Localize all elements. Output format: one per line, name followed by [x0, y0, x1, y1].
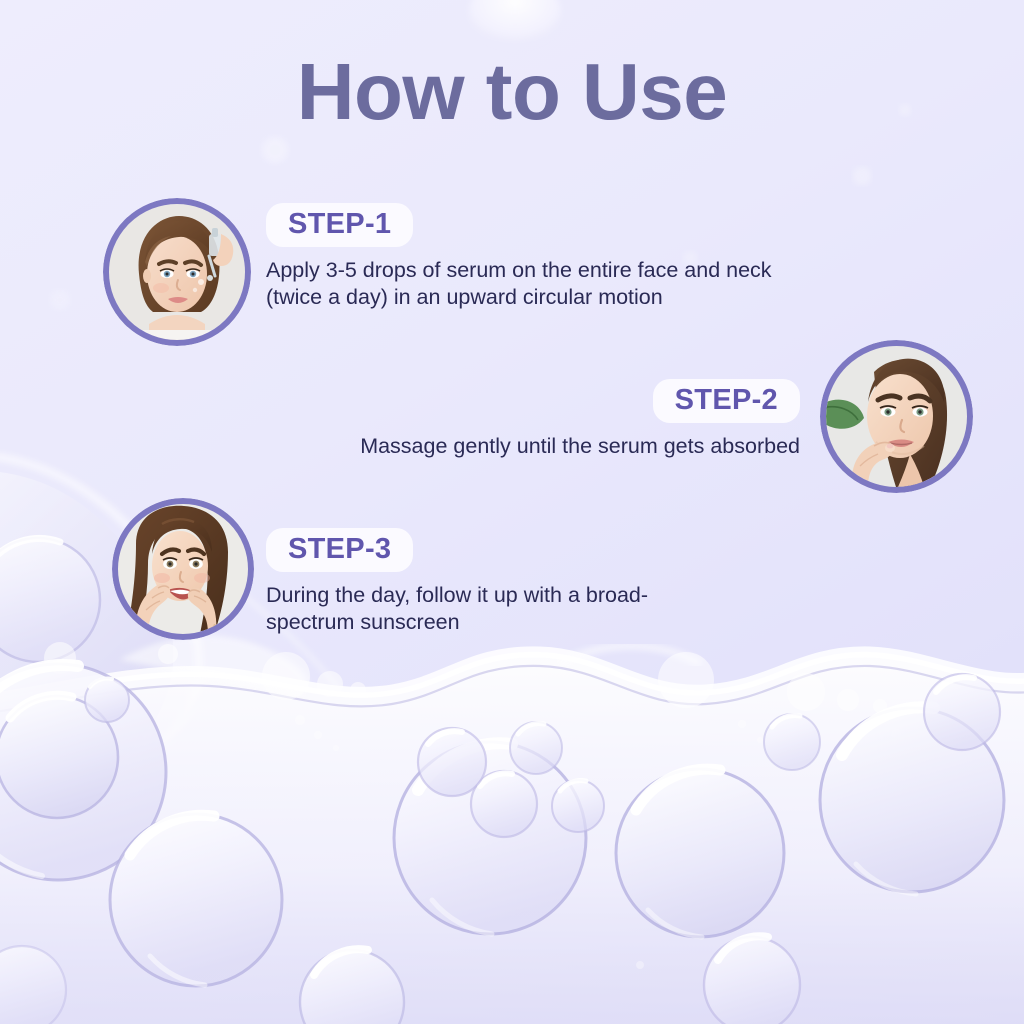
step-2-avatar: [820, 340, 973, 493]
infographic-canvas: How to Use: [0, 0, 1024, 1024]
step-2-block: STEP-2 Massage gently until the serum ge…: [340, 379, 800, 460]
step-3-block: STEP-3 During the day, follow it up with…: [266, 528, 726, 635]
step-1-label: STEP-1: [266, 203, 413, 247]
step-1-avatar-ring: [103, 198, 251, 346]
step-1-text: Apply 3-5 drops of serum on the entire f…: [266, 257, 786, 310]
step-2-avatar-ring: [820, 340, 973, 493]
step-3-text: During the day, follow it up with a broa…: [266, 582, 726, 635]
step-2-text: Massage gently until the serum gets abso…: [340, 433, 800, 460]
page-title: How to Use: [0, 46, 1024, 138]
step-3-label: STEP-3: [266, 528, 413, 572]
step-3-avatar: [112, 498, 254, 640]
step-2-label: STEP-2: [653, 379, 800, 423]
step-1-block: STEP-1 Apply 3-5 drops of serum on the e…: [266, 203, 786, 310]
step-1-avatar: [103, 198, 251, 346]
step-3-avatar-ring: [112, 498, 254, 640]
